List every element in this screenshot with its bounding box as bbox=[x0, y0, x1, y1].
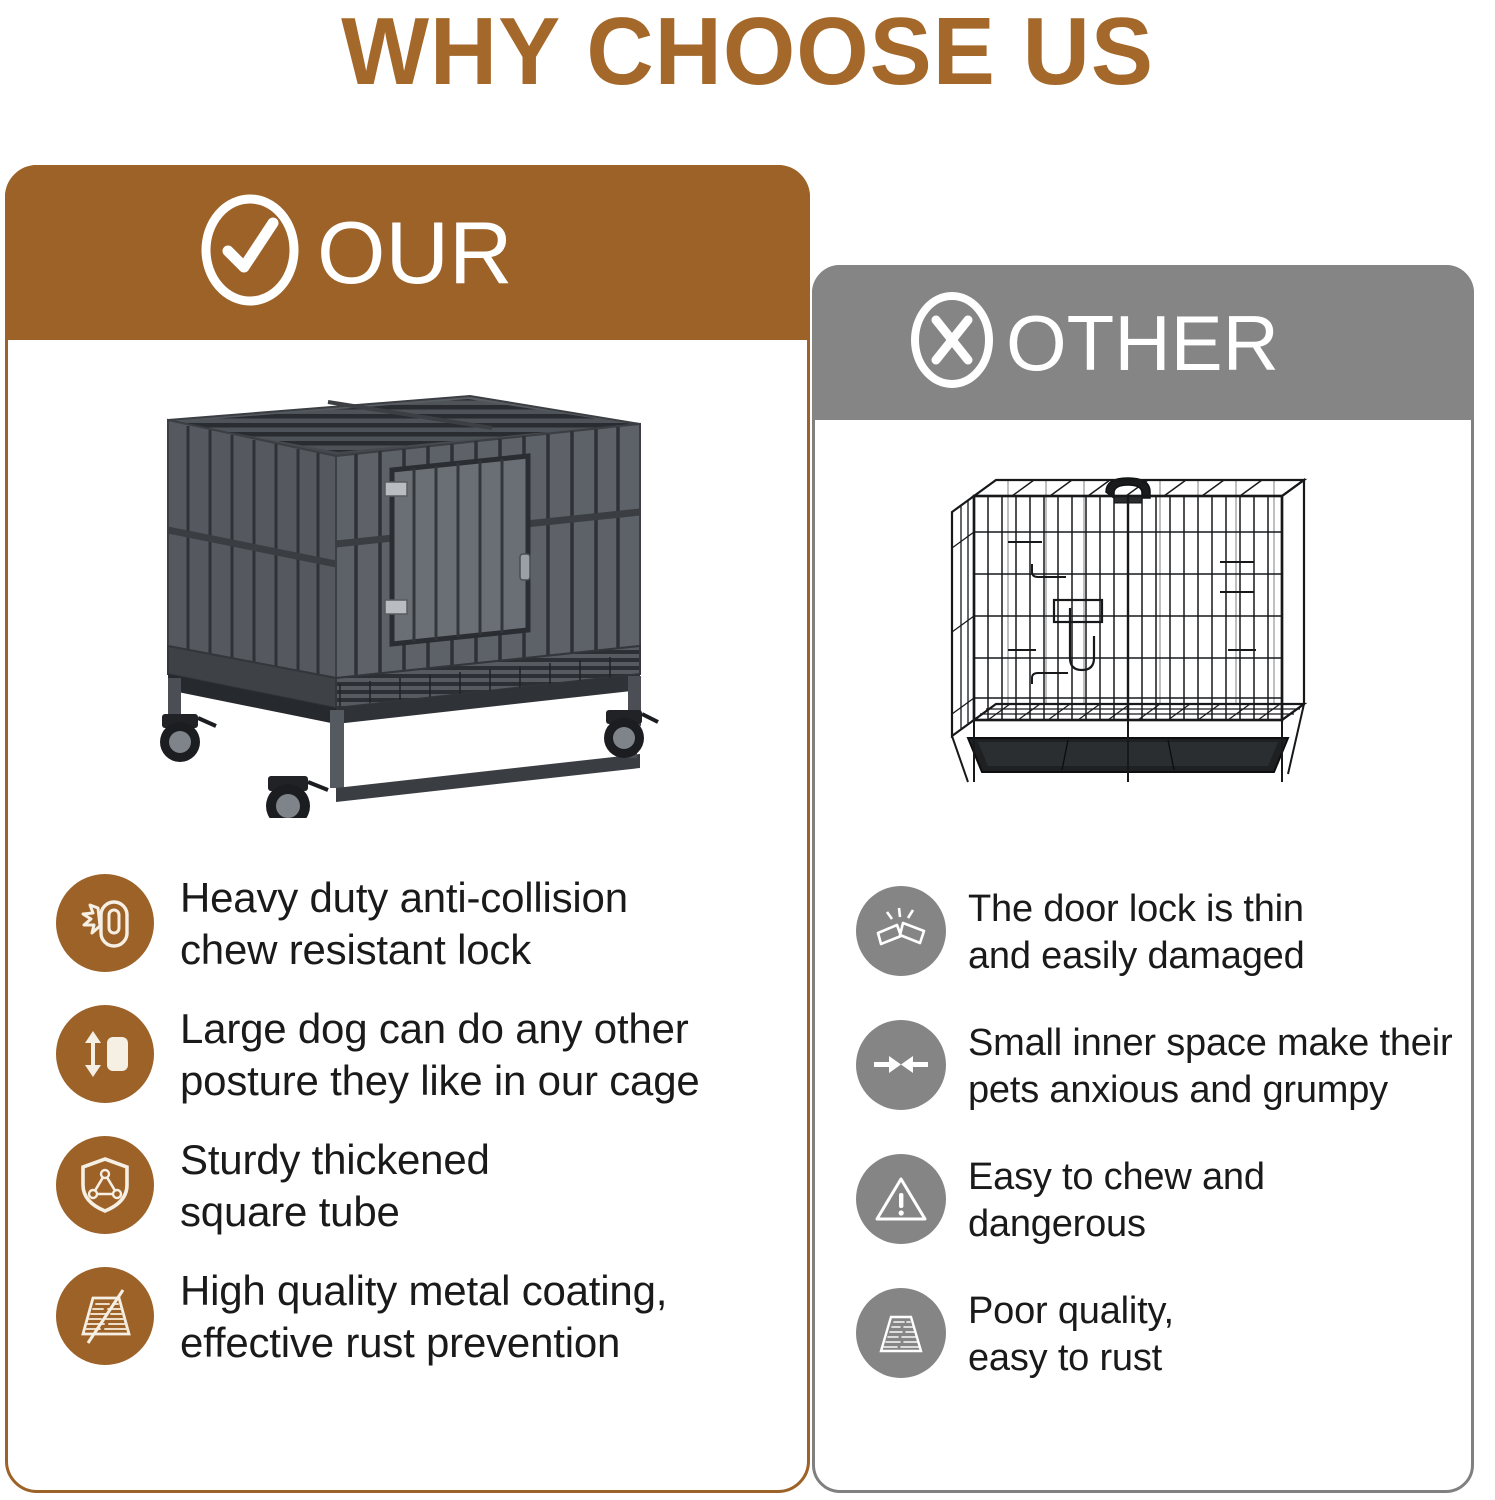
feature-text: Large dog can do any other posture they … bbox=[180, 1003, 776, 1107]
feature-text: Sturdy thickened square tube bbox=[180, 1134, 776, 1238]
broken-lock-icon bbox=[856, 886, 946, 976]
vertical-space-arrow-icon bbox=[56, 1005, 154, 1103]
feature-text: The door lock is thin and easily damaged bbox=[968, 886, 1476, 980]
feature-text: Heavy duty anti-collision chew resistant… bbox=[180, 872, 776, 976]
anti-collision-lock-icon bbox=[56, 874, 154, 972]
feature-item: High quality metal coating, effective ru… bbox=[56, 1265, 776, 1369]
our-feature-list: Heavy duty anti-collision chew resistant… bbox=[56, 872, 776, 1396]
rust-prevention-coating-icon bbox=[56, 1267, 154, 1365]
feature-item: Sturdy thickened square tube bbox=[56, 1134, 776, 1238]
our-panel-header: OUR bbox=[5, 165, 810, 340]
other-product-image bbox=[928, 452, 1328, 794]
warning-triangle-icon bbox=[856, 1154, 946, 1244]
feature-text: High quality metal coating, effective ru… bbox=[180, 1265, 776, 1369]
our-panel-header-label: OUR bbox=[317, 210, 513, 296]
narrow-space-arrows-icon bbox=[856, 1020, 946, 1110]
feature-text: Easy to chew and dangerous bbox=[968, 1154, 1476, 1248]
feature-item: Easy to chew and dangerous bbox=[856, 1152, 1476, 1248]
feature-item: The door lock is thin and easily damaged bbox=[856, 884, 1476, 980]
feature-text: Small inner space make their pets anxiou… bbox=[968, 1020, 1476, 1114]
shield-square-tube-icon bbox=[56, 1136, 154, 1234]
other-feature-list: The door lock is thin and easily damaged… bbox=[856, 884, 1476, 1420]
rusty-panel-icon bbox=[856, 1288, 946, 1378]
feature-item: Large dog can do any other posture they … bbox=[56, 1003, 776, 1107]
feature-item: Small inner space make their pets anxiou… bbox=[856, 1018, 1476, 1114]
x-circle-icon bbox=[908, 288, 996, 397]
feature-item: Heavy duty anti-collision chew resistant… bbox=[56, 872, 776, 976]
feature-text: Poor quality, easy to rust bbox=[968, 1288, 1476, 1382]
check-circle-icon bbox=[197, 191, 303, 314]
feature-item: Poor quality, easy to rust bbox=[856, 1286, 1476, 1382]
other-panel-header: OTHER bbox=[812, 265, 1474, 420]
other-panel-header-label: OTHER bbox=[1006, 300, 1279, 386]
our-product-image bbox=[140, 378, 660, 818]
page-title: WHY CHOOSE US bbox=[22, 2, 1472, 102]
